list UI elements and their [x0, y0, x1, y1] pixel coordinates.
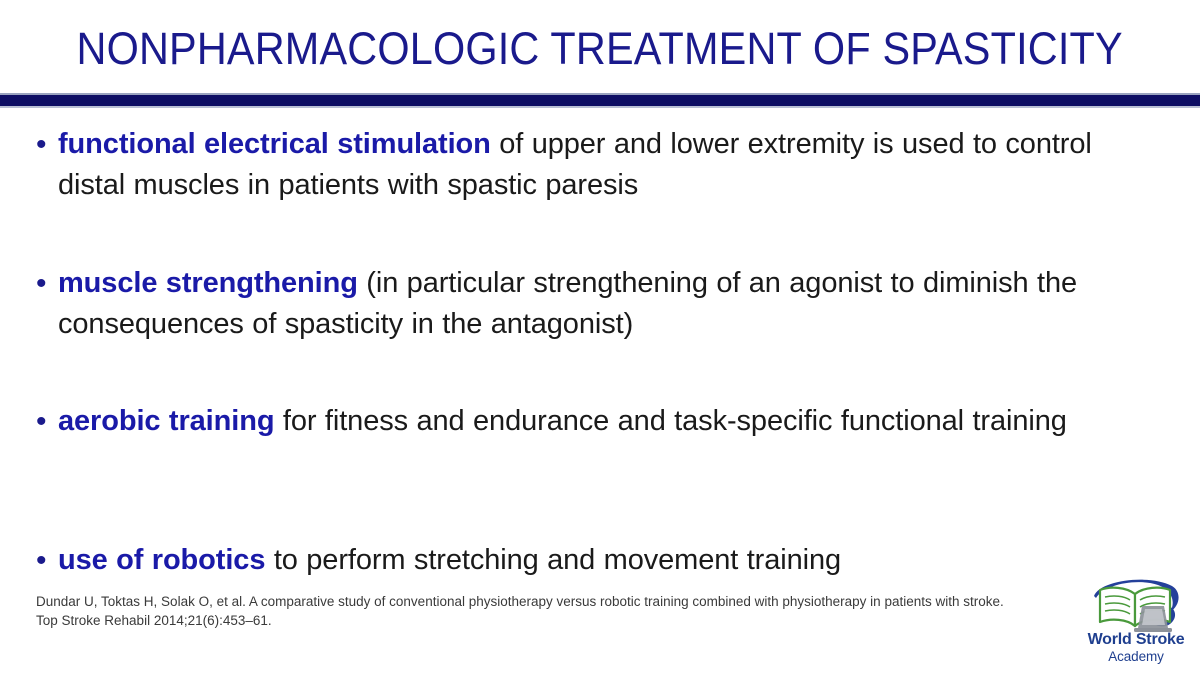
list-item-lead: aerobic training: [58, 405, 274, 437]
bullet-marker-icon: •: [34, 540, 58, 581]
list-item-text: muscle strengthening (in particular stre…: [58, 263, 1154, 345]
page-title: NONPHARMACOLOGIC TREATMENT OF SPASTICITY: [77, 21, 1123, 72]
list-item-text: use of robotics to perform stretching an…: [58, 540, 1154, 581]
list-item-rest: for fitness and endurance and task-speci…: [274, 405, 1066, 437]
list-item: • use of robotics to perform stretching …: [34, 540, 1154, 581]
citation-line-2: Top Stroke Rehabil 2014;21(6):453–61.: [36, 611, 1056, 630]
citation-line-1: Dundar U, Toktas H, Solak O, et al. A co…: [36, 592, 1056, 611]
list-item: • aerobic training for fitness and endur…: [34, 401, 1154, 442]
list-item-lead: use of robotics: [58, 544, 265, 576]
title-divider-bar: [0, 93, 1200, 108]
logo-mark-icon: [1080, 576, 1192, 638]
list-item-text: aerobic training for fitness and enduran…: [58, 401, 1154, 442]
list-item-rest: to perform stretching and movement train…: [265, 544, 841, 576]
list-item: • muscle strengthening (in particular st…: [34, 263, 1154, 345]
slide: NONPHARMACOLOGIC TREATMENT OF SPASTICITY…: [0, 0, 1200, 675]
list-item: • functional electrical stimulation of u…: [34, 124, 1154, 206]
title-area: NONPHARMACOLOGIC TREATMENT OF SPASTICITY: [0, 0, 1200, 93]
logo-text: World Stroke Academy: [1080, 631, 1192, 665]
list-item-lead: muscle strengthening: [58, 267, 358, 299]
list-item-lead: functional electrical stimulation: [58, 128, 491, 160]
bullet-marker-icon: •: [34, 263, 58, 304]
bullet-list: • functional electrical stimulation of u…: [0, 118, 1200, 588]
logo-name-line-2: Academy: [1080, 649, 1192, 665]
bullet-marker-icon: •: [34, 124, 58, 165]
bullet-marker-icon: •: [34, 401, 58, 442]
world-stroke-academy-logo: World Stroke Academy: [1080, 576, 1192, 670]
logo-name-line-1: World Stroke: [1080, 631, 1192, 649]
citation: Dundar U, Toktas H, Solak O, et al. A co…: [36, 592, 1056, 630]
list-item-text: functional electrical stimulation of upp…: [58, 124, 1154, 206]
